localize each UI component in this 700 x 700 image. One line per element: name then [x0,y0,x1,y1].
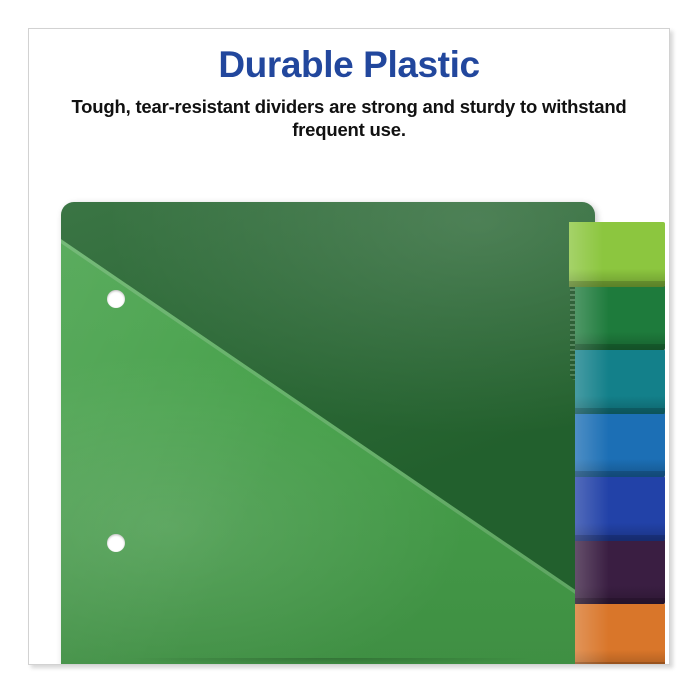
pocket-divider [61,202,595,665]
headline-block: Durable Plastic Tough, tear-resistant di… [29,45,669,142]
tab-dark-blue [575,476,665,541]
page-title: Durable Plastic [29,45,669,86]
punch-hole-top [107,290,125,308]
tab-blue-body [575,412,665,477]
image-frame: Durable Plastic Tough, tear-resistant di… [28,28,670,665]
tab-green [575,285,665,350]
tab-teal [575,349,665,414]
tab-purple [575,539,665,604]
tab-lime-green-body [569,222,665,287]
tab-green-body [575,285,665,350]
tab-dark-blue-body [575,476,665,541]
tab-orange-body [575,603,665,665]
product-photo [29,184,670,665]
tab-blue [575,412,665,477]
punch-hole-bottom [107,534,125,552]
tab-lime-green [569,222,665,287]
product-marketing-image: Durable Plastic Tough, tear-resistant di… [0,0,700,700]
tab-teal-body [575,349,665,414]
pocket-panel [61,202,595,665]
tab-purple-body [575,539,665,604]
page-subtitle: Tough, tear-resistant dividers are stron… [69,95,629,142]
tab-orange [575,603,665,665]
